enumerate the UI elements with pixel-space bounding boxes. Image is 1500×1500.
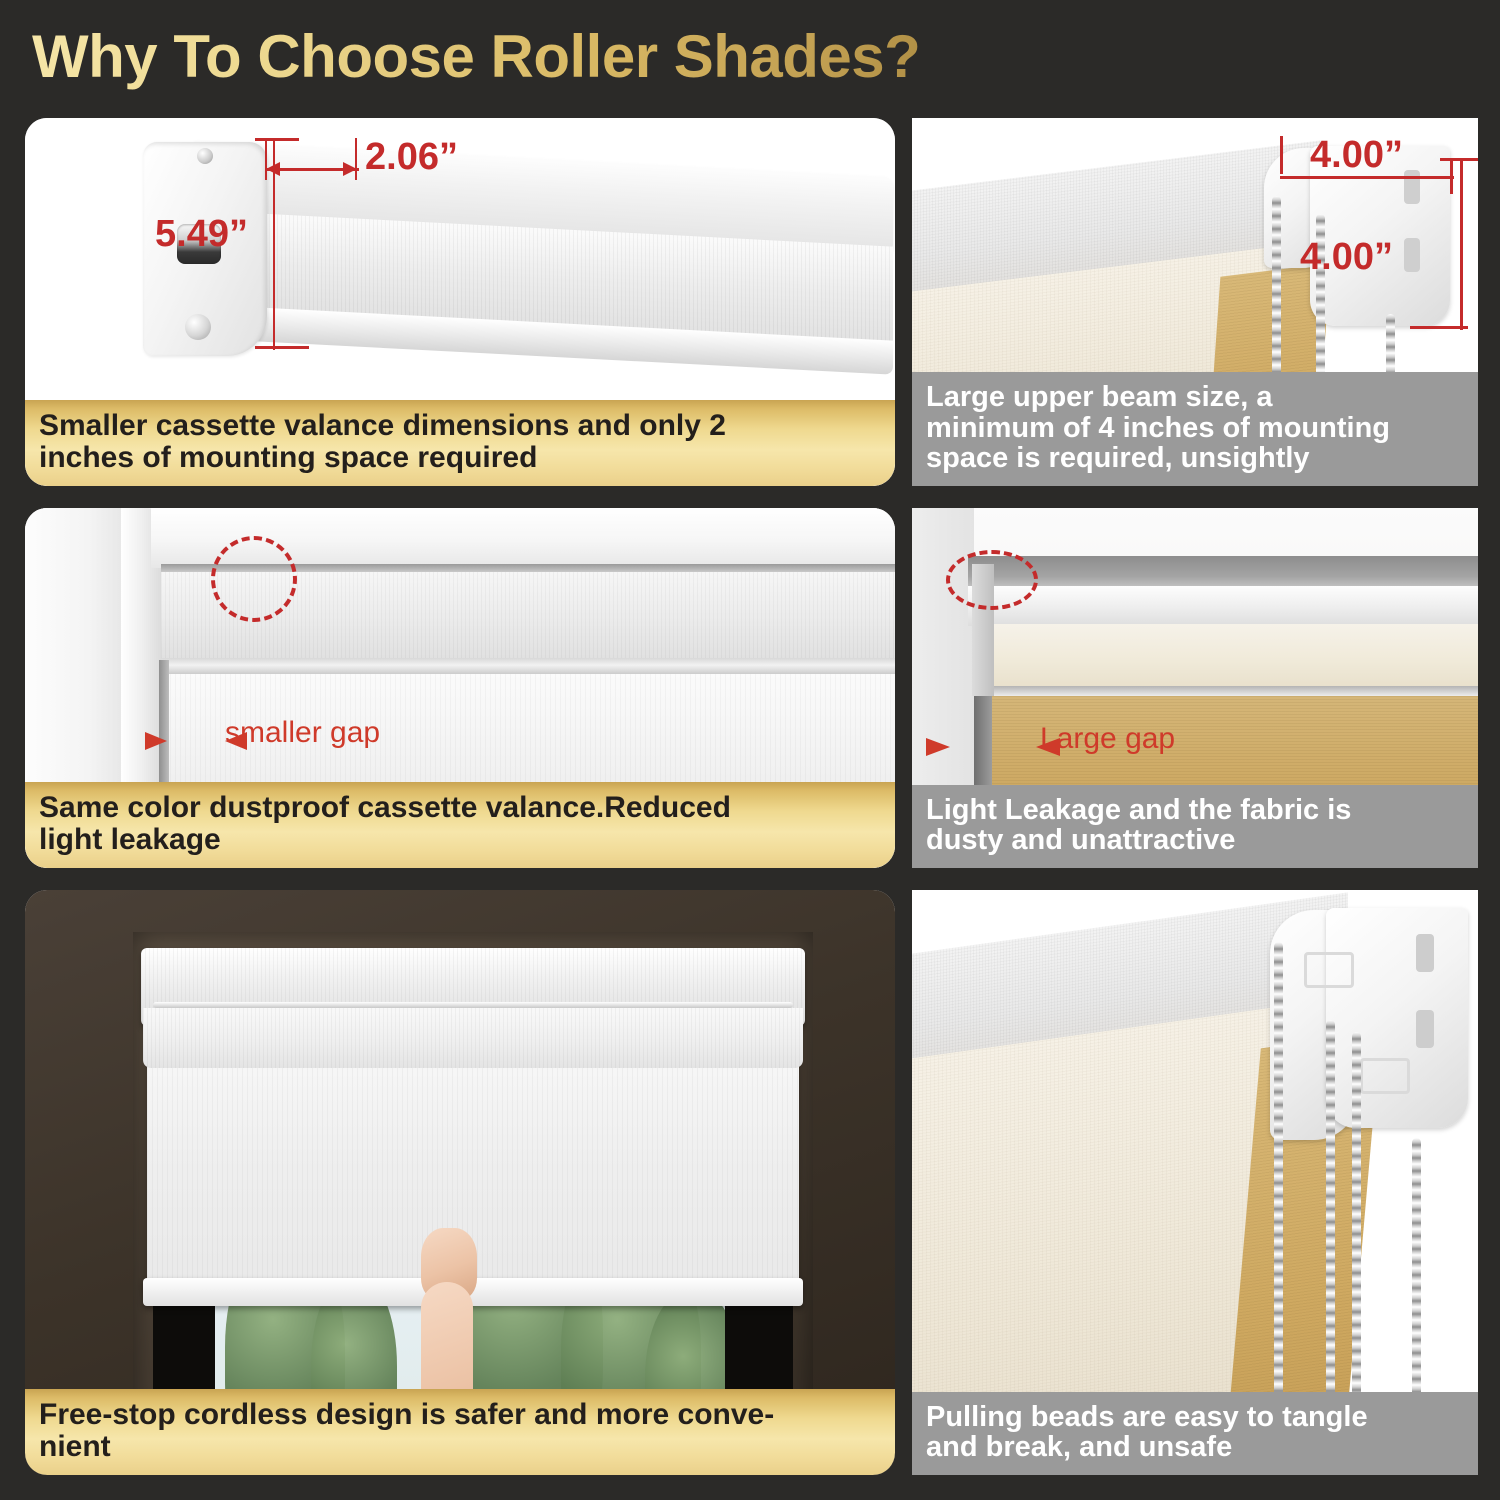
beam-highlight — [968, 586, 1478, 626]
panel-3-caption: Same color dustproof cassette valance.Re… — [25, 782, 895, 868]
caption-line: Pulling beads are easy to tangle — [926, 1402, 1464, 1433]
smaller-gap-label: smaller gap — [225, 716, 380, 750]
beam-height-tick-top — [1440, 158, 1478, 161]
beam-height-tick-bottom — [1410, 326, 1468, 329]
beam-cream-face — [980, 624, 1478, 686]
panel-6-caption: Pulling beads are easy to tangle and bre… — [912, 1392, 1478, 1475]
valance-lower-lip — [161, 658, 895, 674]
beam-height-line — [1460, 158, 1463, 330]
caption-line: Large upper beam size, a — [926, 382, 1464, 413]
caption-line: Free-stop cordless design is safer and m… — [39, 1399, 881, 1431]
caption-line: nient — [39, 1431, 881, 1463]
height-dim-tick-bottom — [255, 346, 309, 349]
panel-smaller-cassette: 2.06” 5.49” Smaller cassette valance dim… — [25, 118, 895, 486]
width-dim-tick-right — [355, 138, 357, 180]
width-dimension-label: 2.06” — [365, 136, 458, 179]
panel-dustproof-valance: smaller gap Same color dustproof cassett… — [25, 508, 895, 868]
gap-highlight-circle — [211, 536, 297, 622]
gap-highlight-circle — [946, 550, 1038, 610]
panel-1-caption: Smaller cassette valance dimensions and … — [25, 400, 895, 486]
panel-cordless-design: Free-stop cordless design is safer and m… — [25, 890, 895, 1475]
panel-pulling-beads: Pulling beads are easy to tangle and bre… — [912, 890, 1478, 1475]
panel-5-artwork — [25, 890, 895, 1475]
roller-bracket-plate — [1326, 908, 1468, 1128]
caption-line: Light Leakage and the fabric is — [926, 795, 1464, 826]
bracket-slot-upper — [1416, 934, 1434, 972]
beam-bottom-edge — [984, 686, 1478, 696]
caption-line: dusty and unattractive — [926, 825, 1464, 856]
beam-height-label: 4.00” — [1300, 236, 1393, 279]
caption-line: Same color dustproof cassette valance.Re… — [39, 792, 881, 824]
valance-groove — [153, 1002, 793, 1008]
caption-line: space is required, unsightly — [926, 443, 1464, 474]
panel-5-caption: Free-stop cordless design is safer and m… — [25, 1389, 895, 1475]
caption-line: Smaller cassette valance dimensions and … — [39, 410, 881, 442]
bracket-emblem-lower — [1360, 1058, 1410, 1094]
panel-6-artwork — [912, 890, 1478, 1475]
caption-line: inches of mounting space required — [39, 442, 881, 474]
caption-line: minimum of 4 inches of mounting — [926, 413, 1464, 444]
height-dim-tick-top — [255, 138, 299, 141]
panel-4-caption: Light Leakage and the fabric is dusty an… — [912, 785, 1478, 868]
caption-line: and break, and unsafe — [926, 1432, 1464, 1463]
beam-width-label: 4.00” — [1310, 134, 1403, 177]
bracket-emblem-upper — [1304, 952, 1354, 988]
infographic-root: Why To Choose Roller Shades? 2.06” 5.49” — [0, 0, 1500, 1500]
panel-light-leakage: Large gap Light Leakage and the fabric i… — [912, 508, 1478, 868]
valance-screw-upper — [197, 148, 213, 164]
valance-screw-lower — [185, 314, 211, 340]
height-dim-line — [273, 138, 275, 350]
large-gap-label: Large gap — [1040, 722, 1175, 756]
bracket-slot-lower — [1416, 1010, 1434, 1048]
bracket-slot-lower — [1404, 238, 1420, 272]
valance-lower-face — [143, 1008, 803, 1068]
beam-top-dark — [968, 556, 1478, 590]
page-title: Why To Choose Roller Shades? — [32, 22, 920, 91]
panel-2-caption: Large upper beam size, a minimum of 4 in… — [912, 372, 1478, 486]
width-dim-tick-left — [265, 140, 267, 180]
height-dimension-label: 5.49” — [155, 213, 248, 256]
beam-width-tick-left — [1280, 136, 1283, 174]
caption-line: light leakage — [39, 824, 881, 856]
gap-arrow-left — [926, 738, 984, 756]
panel-large-upper-beam: 4.00” 4.00” Large upper beam size, a min… — [912, 118, 1478, 486]
